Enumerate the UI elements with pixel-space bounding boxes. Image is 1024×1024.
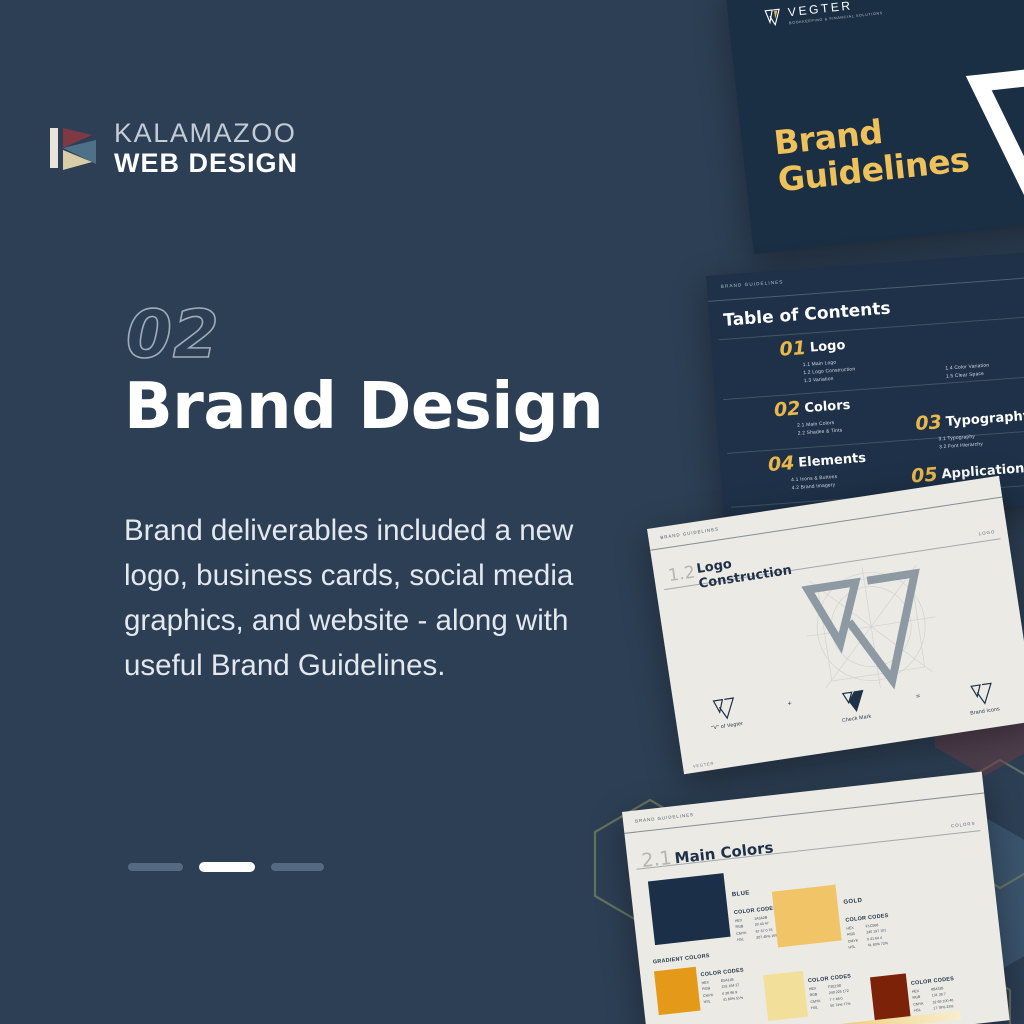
vegter-v-mark-icon [763,7,782,28]
swatch-light-gold[interactable] [763,971,808,1021]
cc-key-hsl-o: HSL [703,998,714,1005]
swatch-info-gold: GOLD COLOR CODES HEX RGB CMYK HSL F1C568… [843,895,892,951]
swatch-blue[interactable] [648,873,731,945]
cc-key-hsl-g: HSL [848,943,859,950]
toc-header: BRAND GUIDELINES [706,247,1024,302]
swatch-label-gold: GOLD [843,895,887,906]
logo-construction-footer: VEGTER [693,761,715,769]
pagination-dot-3[interactable] [271,863,324,871]
cc-val-hsl-lightgold: 50 74% 77% [830,1001,851,1010]
toc-header-left: BRAND GUIDELINES [721,279,784,289]
toc-entry-logo-extra: 1.4 Color Variation 1.5 Clear Space [945,360,990,382]
toc-name-01: Logo [809,338,845,356]
swatch-info-dark-red: COLOR CODES HEX RGB CMYK HSL 8B4328 131 … [911,976,958,1014]
formula-operator-equals: = [916,693,921,701]
main-colors-header-right: COLORS [951,821,976,829]
cover-title: Brand Guidelines [772,105,971,199]
slide-description: Brand deliverables included a new logo, … [124,508,644,688]
kalamazoo-brand-logo[interactable]: KALAMAZOO WEB DESIGN [48,118,298,178]
swatch-info-orange: COLOR CODES HEX RGB CMYK HSL E5A11B 232 … [700,967,747,1005]
formula-label-2: Check Mark [842,714,872,724]
swatch-gold[interactable] [772,885,842,948]
brand-name-line2: WEB DESIGN [114,150,298,177]
vegter-logo: VEGTER BOOKKEEPING & FINANCIAL SOLUTIONS [763,0,883,28]
main-colors-header-left: BRAND GUIDELINES [635,812,694,824]
pagination-dot-2-active[interactable] [199,862,255,872]
cc-key-hsl-lg: HSL [811,1004,822,1011]
slide-card-logo-construction[interactable]: BRAND GUIDELINES 1.2LogoConstruction LOG… [647,476,1024,774]
toc-entry-typography[interactable]: 03Typography 3.1 Typography 3.2 Font Hie… [915,405,1024,455]
slide-card-main-colors[interactable]: BRAND GUIDELINES 2.1 Main Colors COLORS … [622,772,1010,1024]
kalamazoo-hexagon-k-icon [48,118,100,178]
cc-key-hsl: HSL [737,936,748,943]
toc-name-04: Elements [798,451,867,471]
cc-key-hsl-dr: HSL [914,1006,925,1013]
swatch-chip-blue [648,873,731,945]
swatch-chip-dark-red [870,973,911,1021]
page-title: Brand Design [124,370,603,444]
check-mark-icon [839,687,868,715]
swatch-dark-red[interactable] [870,973,911,1021]
formula-operator-plus: + [787,700,792,708]
toc-title: Table of Contents [723,299,892,331]
brand-icons-icon [968,680,997,708]
toc-num-05: 05 [910,464,938,488]
brand-name-line1: KALAMAZOO [114,120,298,147]
toc-entry-colors[interactable]: 02Colors 2.1 Main Colors 2.2 Shades & Ti… [773,394,852,441]
swatch-chip-light-gold [763,971,808,1021]
cc-val-hsl-orange: 41 80% 51% [723,995,744,1004]
toc-num-04: 04 [767,452,795,476]
toc-entry-logo[interactable]: 01Logo 1.1 Main Logo 1.2 Logo Constructi… [779,333,856,388]
formula-label-3: Brand Icons [970,706,1000,716]
pagination-dot-1[interactable] [128,863,183,871]
formula-label-1: "V" of Vegter [711,721,743,732]
toc-num-03: 03 [915,411,943,435]
main-colors-header: BRAND GUIDELINES [622,772,984,834]
logo-construction-num: 1.2 [667,562,697,586]
toc-name-03: Typography [945,409,1024,430]
toc-entry-elements[interactable]: 04Elements 4.1 Icons & Buttons 4.2 Brand… [767,447,868,495]
formula-item-v-of-vegter: "V" of Vegter [707,694,744,731]
slide-card-cover[interactable]: VEGTER BOOKKEEPING & FINANCIAL SOLUTIONS… [725,0,1024,254]
logo-construction-header-left: BRAND GUIDELINES [660,526,719,540]
swatch-chip-orange [654,967,701,1015]
swatch-orange[interactable] [654,967,701,1015]
toc-num-01: 01 [779,337,807,361]
formula-item-brand-icons: Brand Icons [966,680,1000,717]
vegter-v-checkmark-icon [948,33,1024,254]
pagination[interactable] [128,862,324,872]
gradient-colors-heading: GRADIENT COLORS [653,953,711,965]
slide-number: 02 [126,296,220,373]
cc-val-hsl-blue: 207 45% 16% [756,932,779,941]
toc-name-02: Colors [804,398,851,416]
logo-construction-header-right: LOGO [978,529,995,536]
v-outline-icon [710,695,739,723]
swatch-label-blue: BLUE [732,887,776,898]
cc-val-hsl-gold: 41 60% 72% [867,940,888,949]
toc-num-02: 02 [773,397,801,421]
formula-item-check-mark: Check Mark [838,687,872,724]
cc-val-hsl-darkred: 17 78% 23% [933,1003,955,1012]
swatch-info-light-gold: COLOR CODES HEX RGB CMYK HSL F2E19D 240 … [808,973,855,1011]
swatch-chip-gold [772,885,842,948]
